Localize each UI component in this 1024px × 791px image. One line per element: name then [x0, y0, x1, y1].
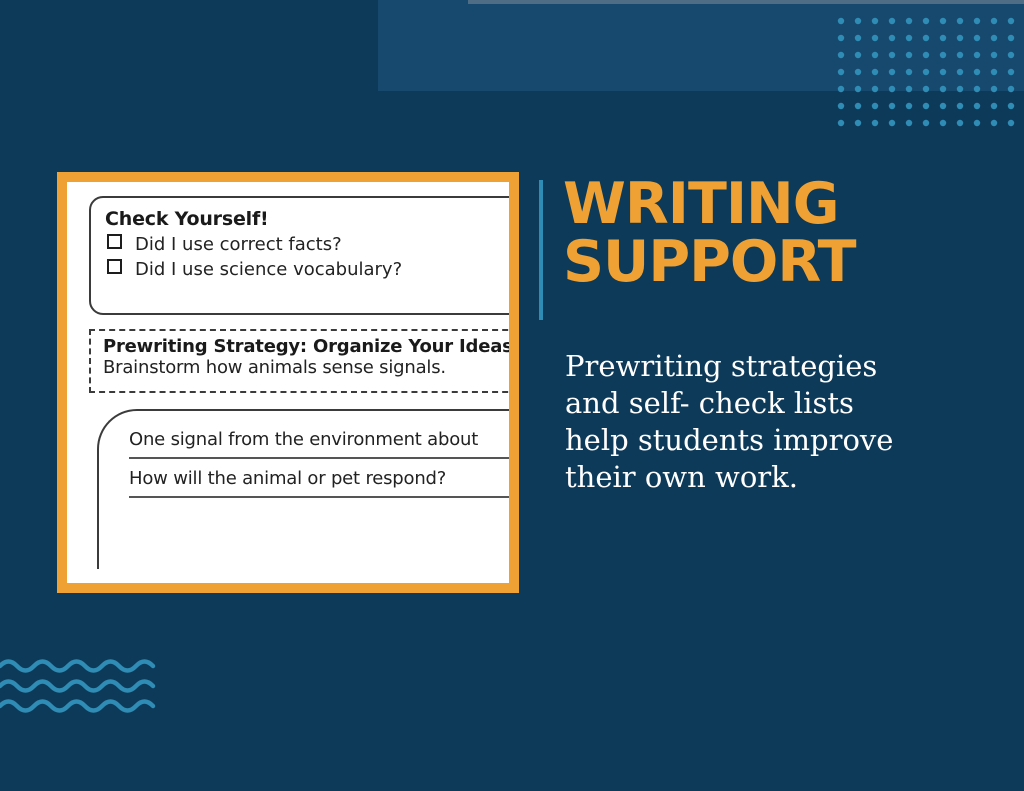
worksheet-image-card: Check Yourself! Did I use correct facts?… [57, 172, 519, 593]
writing-rule [129, 457, 509, 459]
headline-line-2: SUPPORT [563, 233, 1003, 291]
checkbox-icon [107, 259, 122, 274]
top-grey-strip [468, 0, 1024, 4]
response-lines-box: One signal from the environment about Ho… [97, 409, 509, 569]
prewriting-strategy-subtext: Brainstorm how animals sense signals. [103, 357, 509, 378]
subcopy-line-2: and self- check lists [565, 385, 1005, 422]
check-yourself-box: Check Yourself! Did I use correct facts?… [89, 196, 509, 315]
subcopy-line-4: their own work. [565, 459, 1005, 496]
page-title: WRITING SUPPORT [563, 175, 1003, 291]
response-prompt: How will the animal or pet respond? [129, 468, 509, 496]
check-yourself-item: Did I use science vocabulary? [107, 257, 509, 283]
response-prompt: One signal from the environment about [129, 429, 509, 457]
check-yourself-item: Did I use correct facts? [107, 232, 509, 258]
check-yourself-title: Check Yourself! [105, 208, 509, 232]
check-yourself-item-label: Did I use science vocabulary? [135, 257, 402, 283]
page-subcopy: Prewriting strategies and self- check li… [565, 348, 1005, 496]
slide-canvas: Check Yourself! Did I use correct facts?… [0, 0, 1024, 791]
check-yourself-item-label: Did I use correct facts? [135, 232, 342, 258]
checkbox-icon [107, 234, 122, 249]
dot-grid-decoration [836, 16, 1024, 132]
subcopy-line-1: Prewriting strategies [565, 348, 1005, 385]
writing-rule [129, 496, 509, 498]
worksheet-content: Check Yourself! Did I use correct facts?… [67, 182, 509, 583]
wave-decoration [0, 650, 170, 718]
prewriting-strategy-heading: Prewriting Strategy: Organize Your Ideas [103, 336, 509, 357]
headline-line-1: WRITING [563, 175, 1003, 233]
worksheet-page: Check Yourself! Did I use correct facts?… [67, 182, 509, 583]
prewriting-strategy-box: Prewriting Strategy: Organize Your Ideas… [89, 329, 509, 393]
headline-accent-rule [539, 180, 543, 320]
subcopy-line-3: help students improve [565, 422, 1005, 459]
